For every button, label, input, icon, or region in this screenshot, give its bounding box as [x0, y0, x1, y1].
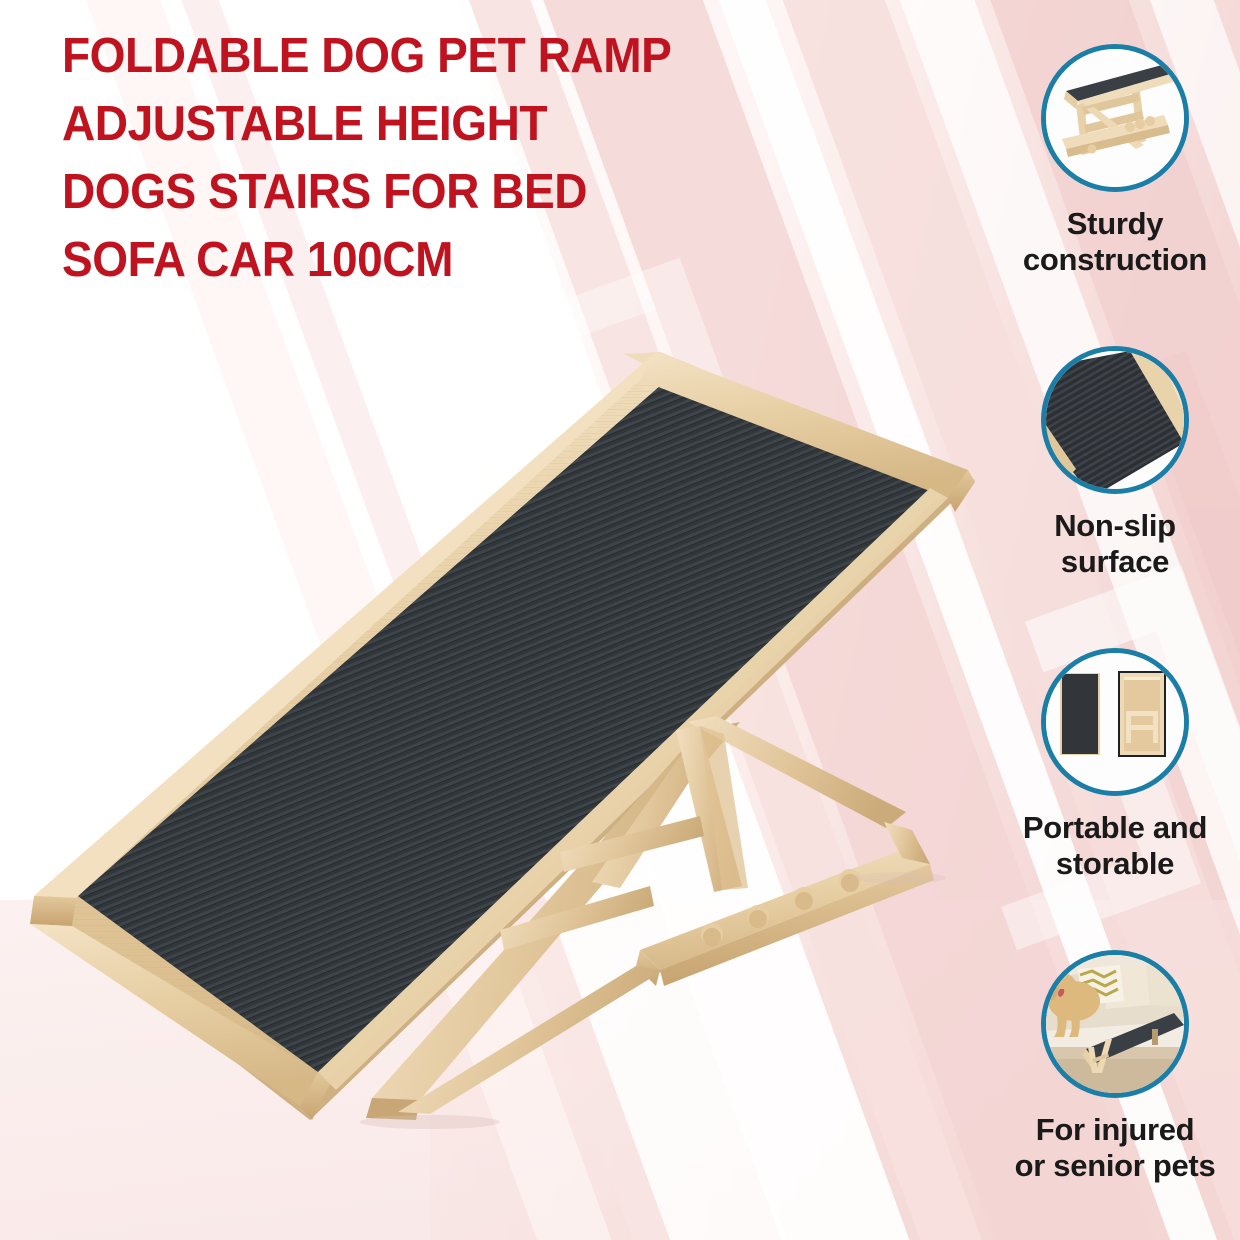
feature-label-sturdy-construction: Sturdy construction: [995, 206, 1235, 278]
feature-image-non-slip-surface: [1041, 346, 1189, 494]
feature-label-line-2: or senior pets: [1015, 1148, 1216, 1183]
feature-label-for-injured-or-senior-pets: For injured or senior pets: [995, 1112, 1235, 1184]
feature-non-slip-surface: Non-slip surface: [990, 346, 1240, 580]
feature-label-line-2: construction: [1023, 242, 1207, 277]
ramp-deck: [30, 352, 975, 1120]
feature-sturdy-construction: Sturdy construction: [990, 44, 1240, 278]
title-line-2: ADJUSTABLE HEIGHT: [62, 90, 814, 158]
feature-image-for-injured-or-senior-pets: [1041, 950, 1189, 1098]
feature-label-line-1: For injured: [1036, 1112, 1195, 1147]
feature-portable-and-storable: Portable and storable: [990, 648, 1240, 882]
product-title: FOLDABLE DOG PET RAMP ADJUSTABLE HEIGHT …: [62, 22, 862, 294]
feature-label-line-1: Sturdy: [1067, 206, 1163, 241]
feature-label-line-2: surface: [1061, 544, 1169, 579]
title-line-1: FOLDABLE DOG PET RAMP: [62, 22, 814, 90]
feature-for-injured-or-senior-pets: For injured or senior pets: [990, 950, 1240, 1184]
feature-label-line-1: Portable and: [1023, 810, 1207, 845]
feature-image-sturdy-construction: [1041, 44, 1189, 192]
feature-label-line-2: storable: [1056, 846, 1174, 881]
feature-callout-rail: Sturdy construction: [990, 0, 1240, 1240]
feature-label-line-1: Non-slip: [1054, 508, 1176, 543]
feature-label-portable-and-storable: Portable and storable: [995, 810, 1235, 882]
feature-label-non-slip-surface: Non-slip surface: [995, 508, 1235, 580]
title-line-3: DOGS STAIRS FOR BED: [62, 158, 814, 226]
feature-image-portable-and-storable: [1041, 648, 1189, 796]
main-product-image: [0, 330, 1000, 1160]
title-line-4: SOFA CAR 100CM: [62, 226, 814, 294]
